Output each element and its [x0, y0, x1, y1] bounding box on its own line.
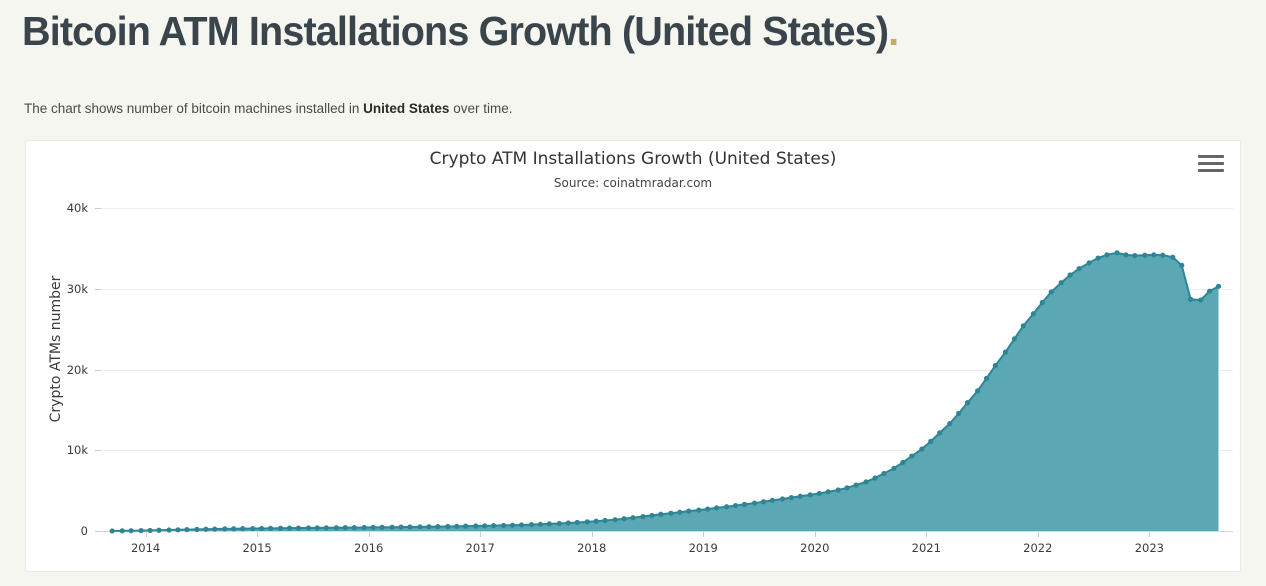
data-point-marker: [1179, 263, 1184, 268]
data-point-marker: [1114, 250, 1119, 255]
data-point-marker: [231, 526, 236, 531]
data-point-marker: [733, 503, 738, 508]
page-subtitle-pre: The chart shows number of bitcoin machin…: [24, 101, 363, 116]
data-point-marker: [696, 507, 701, 512]
data-point-marker: [287, 526, 292, 531]
data-point-marker: [538, 522, 543, 527]
data-point-marker: [817, 491, 822, 496]
data-point-marker: [296, 525, 301, 530]
data-point-marker: [435, 524, 440, 529]
data-point-marker: [519, 522, 524, 527]
page-title: Bitcoin ATM Installations Growth (United…: [22, 8, 898, 55]
data-point-marker: [110, 528, 115, 533]
data-point-marker: [965, 400, 970, 405]
data-point-marker: [1076, 266, 1081, 271]
data-point-marker: [947, 421, 952, 426]
data-point-marker: [1003, 350, 1008, 355]
data-point-marker: [853, 483, 858, 488]
data-point-marker: [510, 523, 515, 528]
data-point-marker: [845, 485, 850, 490]
data-point-marker: [203, 527, 208, 532]
data-point-marker: [984, 376, 989, 381]
data-point-marker: [566, 520, 571, 525]
data-point-marker: [1188, 297, 1193, 302]
data-point-marker: [789, 495, 794, 500]
data-point-marker: [501, 523, 506, 528]
data-point-marker: [686, 509, 691, 514]
page-subtitle-post: over time.: [449, 101, 512, 116]
data-point-marker: [1040, 300, 1045, 305]
data-point-marker: [956, 411, 961, 416]
data-point-marker: [919, 446, 924, 451]
data-point-marker: [491, 523, 496, 528]
data-point-marker: [891, 466, 896, 471]
data-point-marker: [993, 363, 998, 368]
plot-area: Crypto ATMs number 010k20k30k40k20142015…: [26, 141, 1240, 571]
data-point-marker: [175, 527, 180, 532]
data-point-marker: [194, 527, 199, 532]
data-point-marker: [640, 514, 645, 519]
data-point-marker: [585, 519, 590, 524]
data-point-marker: [278, 526, 283, 531]
data-point-marker: [371, 525, 376, 530]
data-point-marker: [1216, 284, 1221, 289]
data-point-marker: [306, 525, 311, 530]
data-point-marker: [724, 504, 729, 509]
data-point-marker: [379, 525, 384, 530]
data-point-marker: [1142, 253, 1147, 258]
data-point-marker: [324, 525, 329, 530]
data-point-marker: [166, 527, 171, 532]
data-point-marker: [343, 525, 348, 530]
data-point-marker: [1049, 289, 1054, 294]
data-point-marker: [315, 525, 320, 530]
data-point-marker: [1021, 323, 1026, 328]
data-point-marker: [714, 505, 719, 510]
data-point-marker: [909, 453, 914, 458]
data-point-marker: [770, 498, 775, 503]
data-point-marker: [129, 528, 134, 533]
data-point-marker: [798, 494, 803, 499]
data-point-marker: [826, 489, 831, 494]
page-subtitle-country: United States: [363, 101, 449, 116]
data-point-marker: [147, 528, 152, 533]
data-point-marker: [473, 523, 478, 528]
page-root: Bitcoin ATM Installations Growth (United…: [0, 0, 1266, 586]
data-point-marker: [677, 510, 682, 515]
data-point-marker: [1031, 311, 1036, 316]
data-point-marker: [557, 521, 562, 526]
data-point-marker: [1151, 252, 1156, 257]
data-point-marker: [881, 471, 886, 476]
page-title-text: Bitcoin ATM Installations Growth (United…: [22, 8, 888, 54]
data-point-marker: [975, 388, 980, 393]
data-point-marker: [334, 525, 339, 530]
data-point-marker: [1207, 289, 1212, 294]
data-point-marker: [630, 515, 635, 520]
data-point-marker: [668, 511, 673, 516]
data-point-marker: [761, 499, 766, 504]
data-point-marker: [1104, 252, 1109, 257]
data-point-marker: [863, 479, 868, 484]
data-point-marker: [139, 528, 144, 533]
data-point-marker: [352, 525, 357, 530]
data-point-marker: [808, 492, 813, 497]
chart-card: Crypto ATM Installations Growth (United …: [25, 140, 1241, 572]
data-point-marker: [1095, 255, 1100, 260]
data-point-marker: [454, 524, 459, 529]
data-point-marker: [603, 518, 608, 523]
data-point-marker: [426, 524, 431, 529]
page-title-accent-dot: .: [888, 8, 898, 54]
page-subtitle: The chart shows number of bitcoin machin…: [24, 101, 512, 116]
data-point-marker: [872, 475, 877, 480]
data-point-marker: [222, 526, 227, 531]
data-point-marker: [184, 527, 189, 532]
data-point-marker: [658, 512, 663, 517]
data-point-marker: [240, 526, 245, 531]
data-point-marker: [398, 524, 403, 529]
data-point-marker: [752, 500, 757, 505]
data-point-marker: [250, 526, 255, 531]
data-point-marker: [268, 526, 273, 531]
data-point-marker: [482, 523, 487, 528]
data-point-marker: [212, 526, 217, 531]
data-point-marker: [407, 524, 412, 529]
data-point-marker: [1170, 255, 1175, 260]
data-point-marker: [1012, 336, 1017, 341]
data-point-marker: [937, 430, 942, 435]
data-point-marker: [362, 525, 367, 530]
data-point-marker: [120, 528, 125, 533]
data-point-marker: [613, 517, 618, 522]
data-point-marker: [594, 519, 599, 524]
data-point-marker: [1160, 253, 1165, 258]
data-point-marker: [1132, 253, 1137, 258]
data-point-marker: [780, 496, 785, 501]
data-point-marker: [445, 524, 450, 529]
data-point-marker: [156, 528, 161, 533]
data-point-marker: [705, 506, 710, 511]
data-point-marker: [836, 487, 841, 492]
data-point-marker: [1087, 260, 1092, 265]
data-point-marker: [742, 502, 747, 507]
data-point-marker: [417, 524, 422, 529]
data-point-marker: [463, 524, 468, 529]
data-point-marker: [575, 520, 580, 525]
data-point-marker: [529, 522, 534, 527]
data-point-marker: [1068, 272, 1073, 277]
data-point-marker: [1123, 252, 1128, 257]
data-point-marker: [259, 526, 264, 531]
data-point-marker: [928, 439, 933, 444]
data-point-marker: [547, 521, 552, 526]
data-point-marker: [1059, 280, 1064, 285]
data-point-marker: [649, 513, 654, 518]
data-point-marker: [389, 525, 394, 530]
area-series: [26, 141, 1242, 573]
data-point-marker: [621, 516, 626, 521]
data-point-marker: [900, 460, 905, 465]
area-fill: [112, 253, 1218, 531]
data-point-marker: [1198, 297, 1203, 302]
